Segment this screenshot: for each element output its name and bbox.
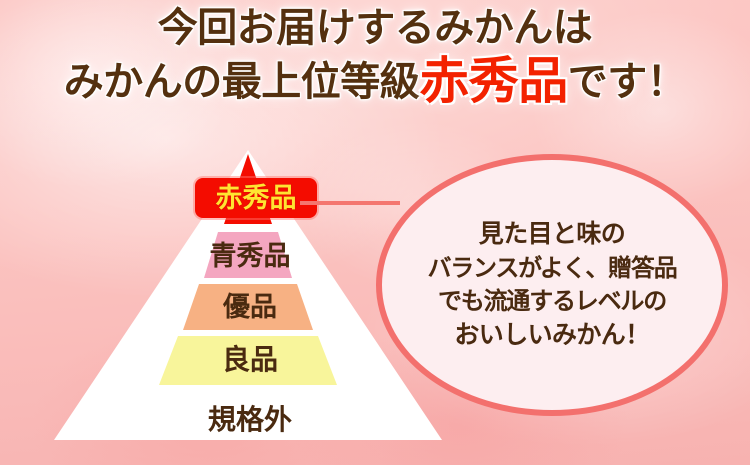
headline-highlight-text: 赤秀品 xyxy=(419,51,568,110)
callout-line-3: でも流通するレベルの xyxy=(438,285,666,318)
headline-line-1: 今回お届けするみかんは xyxy=(0,8,750,48)
promo-banner: 今回お届けするみかんは みかんの最上位等級赤秀品です！ 青秀品 優品 良品 規格… xyxy=(0,0,750,465)
pyramid-tier-yuhin xyxy=(183,284,313,330)
headline-suffix-text: です！ xyxy=(568,58,687,105)
callout-bubble: 見た目と味の バランスがよく、贈答品 でも流通するレベルの おいしいみかん！ xyxy=(376,154,728,416)
pyramid-tier-kikakugai xyxy=(133,391,363,440)
callout-line-2: バランスがよく、贈答品 xyxy=(427,252,676,285)
callout-connector-line xyxy=(300,201,400,205)
pyramid-badge-akashuhin-label: 赤秀品 xyxy=(216,185,297,212)
headline-line-1-text: 今回お届けするみかんは xyxy=(158,4,593,51)
callout-line-4: おいしいみかん！ xyxy=(454,318,649,353)
headline: 今回お届けするみかんは みかんの最上位等級赤秀品です！ xyxy=(0,8,750,106)
callout-line-1: 見た目と味の xyxy=(479,217,625,252)
headline-line-2: みかんの最上位等級赤秀品です！ xyxy=(0,56,750,106)
pyramid-badge-akashuhin: 赤秀品 xyxy=(195,178,317,218)
pyramid-tier-seishuhin xyxy=(204,232,292,278)
headline-prefix-text: みかんの最上位等級 xyxy=(64,58,420,105)
pyramid-tier-ryohin xyxy=(159,336,337,385)
